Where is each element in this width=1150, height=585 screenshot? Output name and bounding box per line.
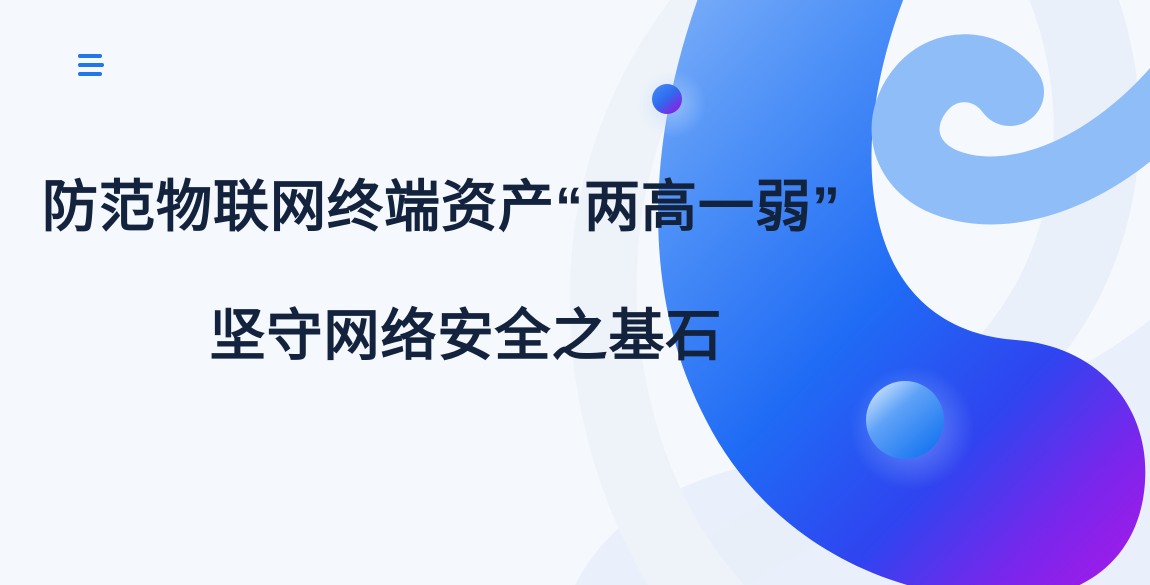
top-bar xyxy=(0,0,1150,130)
menu-bar-middle xyxy=(78,63,104,67)
menu-bar-top xyxy=(78,54,102,58)
headline-line-1: 防范物联网终端资产“两高一弱” xyxy=(0,178,880,237)
large-sphere-glow xyxy=(850,366,974,490)
menu-bar-bottom xyxy=(78,72,102,76)
large-blue-sphere xyxy=(866,381,944,459)
headline-line-2: 坚守网络安全之基石 xyxy=(0,307,890,366)
page-title: 防范物联网终端资产“两高一弱” 坚守网络安全之基石 xyxy=(0,178,880,366)
hero-banner: 防范物联网终端资产“两高一弱” 坚守网络安全之基石 xyxy=(0,0,1150,585)
hamburger-menu-icon[interactable] xyxy=(78,47,118,83)
